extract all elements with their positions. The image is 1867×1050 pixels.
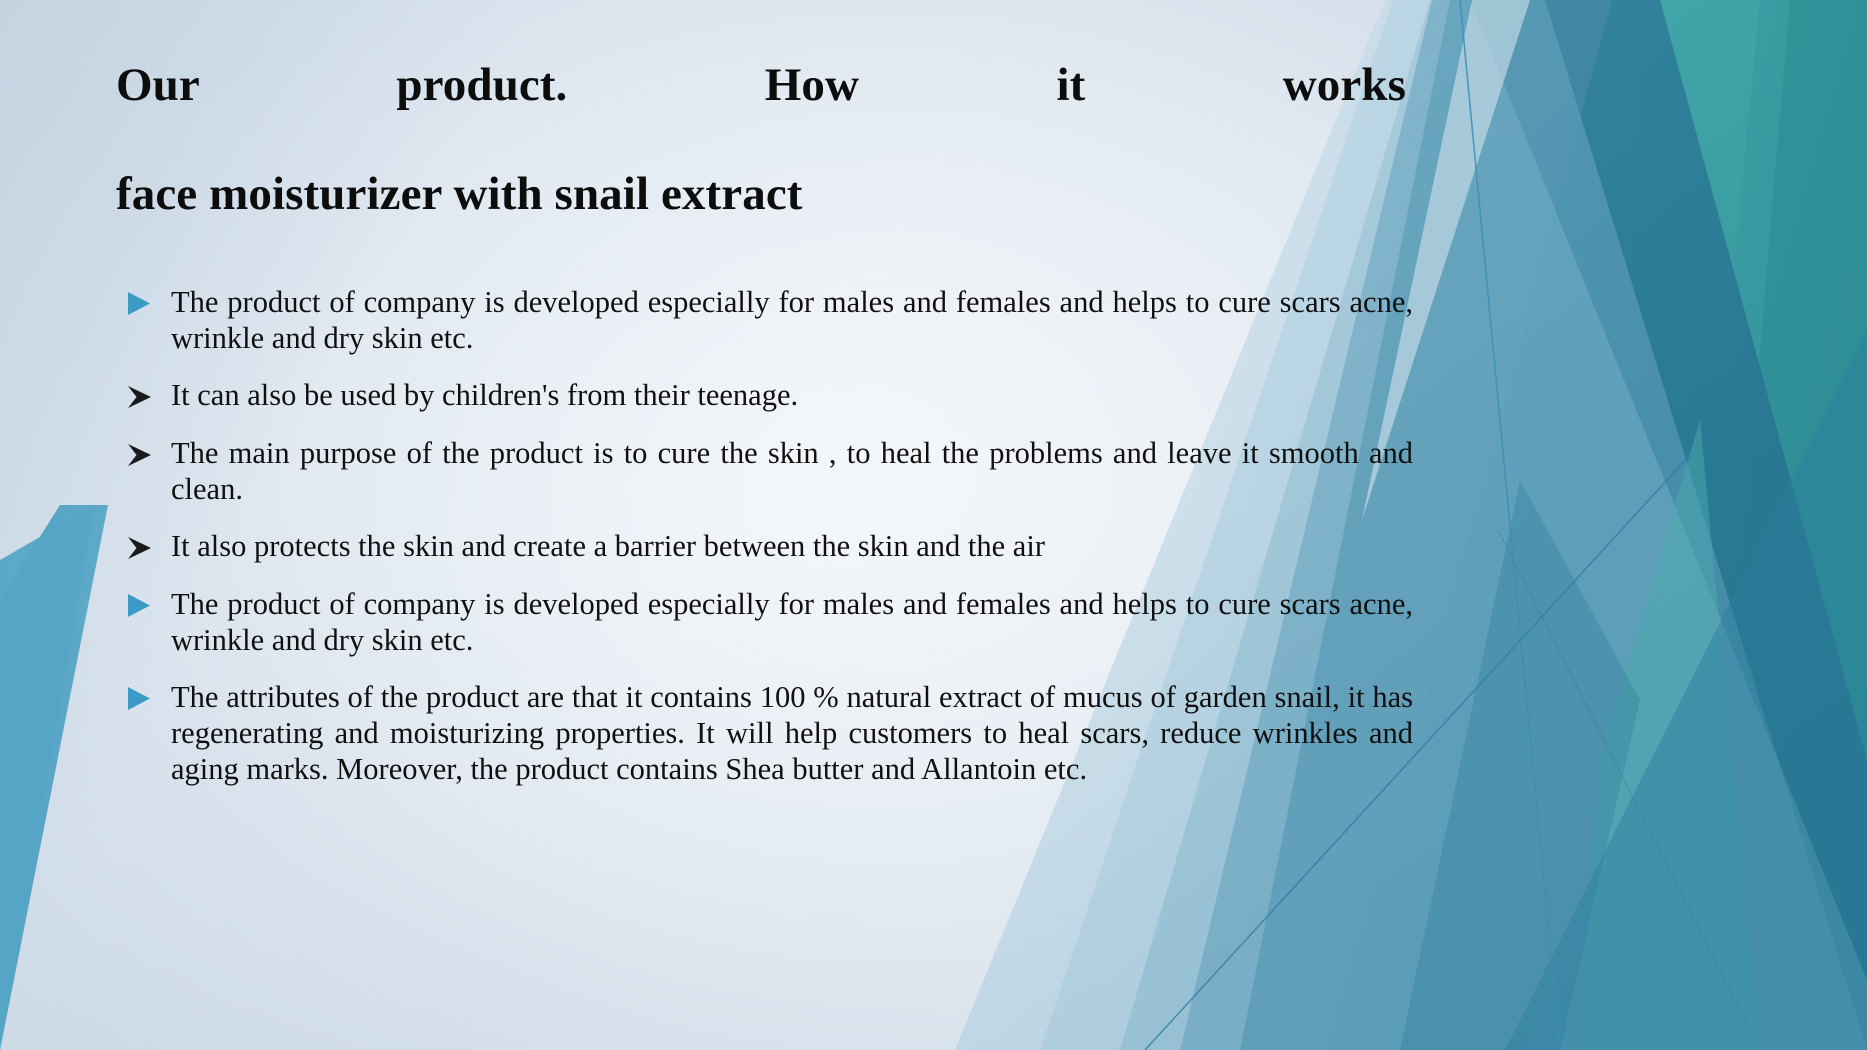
bullet-item: The attributes of the product are that i… (116, 680, 1413, 787)
slide-body-bullet-list: The product of company is developed espe… (116, 285, 1413, 787)
blue-triangle-bullet-icon (124, 289, 158, 319)
bullet-item: It also protects the skin and create a b… (116, 529, 1413, 565)
bullet-text: The product of company is developed espe… (171, 285, 1413, 356)
black-arrowhead-bullet-icon (124, 382, 158, 412)
bullet-text: It also protects the skin and create a b… (171, 529, 1413, 565)
bullet-item: The product of company is developed espe… (116, 285, 1413, 356)
blue-triangle-bullet-icon (124, 684, 158, 714)
bullet-item: It can also be used by children's from t… (116, 378, 1413, 414)
presentation-slide: Our product. How it works face moisturiz… (0, 0, 1867, 1050)
black-arrowhead-bullet-icon (124, 440, 158, 470)
black-arrowhead-bullet-icon (124, 533, 158, 563)
bullet-item: The main purpose of the product is to cu… (116, 436, 1413, 507)
bullet-item: The product of company is developed espe… (116, 587, 1413, 658)
bullet-text: It can also be used by children's from t… (171, 378, 1413, 414)
bullet-text: The product of company is developed espe… (171, 587, 1413, 658)
slide-title-line-1: Our product. How it works (116, 58, 1406, 167)
bullet-text: The attributes of the product are that i… (171, 680, 1413, 787)
slide-title-line-2: face moisturizer with snail extract (116, 167, 1406, 222)
bullet-text: The main purpose of the product is to cu… (171, 436, 1413, 507)
blue-triangle-bullet-icon (124, 591, 158, 621)
slide-title: Our product. How it works face moisturiz… (116, 58, 1406, 222)
